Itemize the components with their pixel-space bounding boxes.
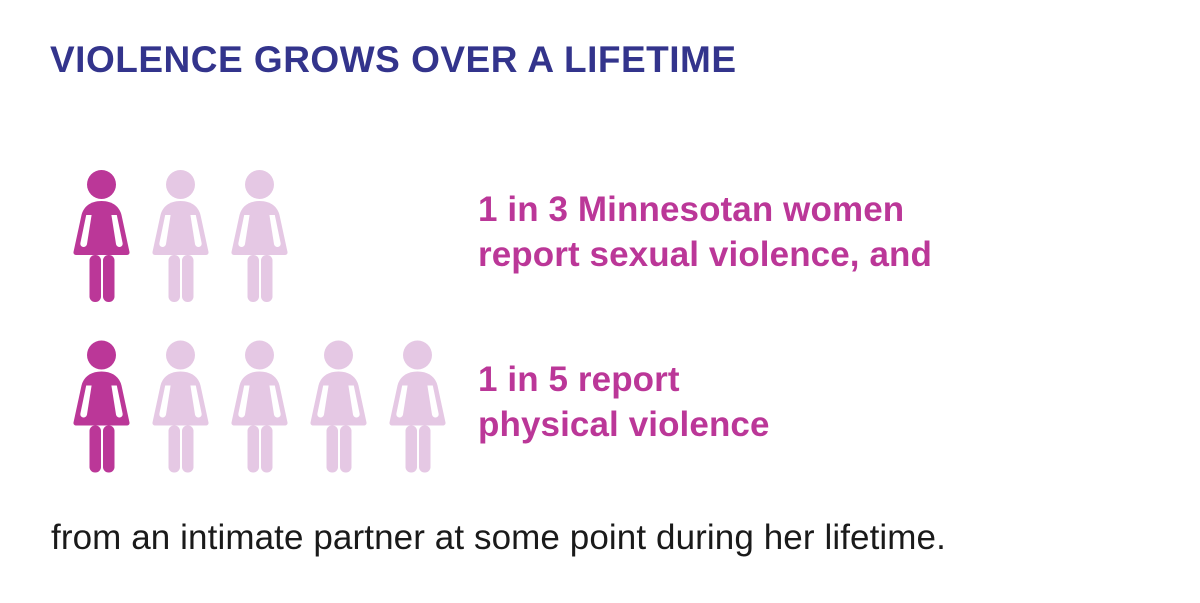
infographic-canvas: VIOLENCE GROWS OVER A LIFETIME 1 in 3 Mi… [0, 0, 1200, 603]
pictogram-row-sexual-violence [73, 170, 288, 302]
footnote-caption: from an intimate partner at some point d… [51, 518, 946, 558]
female-figure-icon-filled [73, 340, 130, 473]
female-figure-icon-empty [152, 340, 209, 473]
female-figure-icon-empty [152, 170, 209, 302]
statement-line: 1 in 5 report [478, 358, 770, 403]
statement-line: report sexual violence, and [478, 233, 932, 278]
page-title: VIOLENCE GROWS OVER A LIFETIME [50, 41, 737, 80]
female-figure-icon-empty [231, 340, 288, 473]
statement-sexual-violence: 1 in 3 Minnesotan women report sexual vi… [478, 188, 932, 278]
female-figure-icon-empty [389, 340, 446, 473]
pictogram-row-physical-violence [73, 340, 468, 473]
statement-line: physical violence [478, 403, 770, 448]
female-figure-icon-filled [73, 170, 130, 302]
female-figure-icon-empty [231, 170, 288, 302]
statement-line: 1 in 3 Minnesotan women [478, 188, 932, 233]
female-figure-icon-empty [310, 340, 367, 473]
statement-physical-violence: 1 in 5 report physical violence [478, 358, 770, 448]
